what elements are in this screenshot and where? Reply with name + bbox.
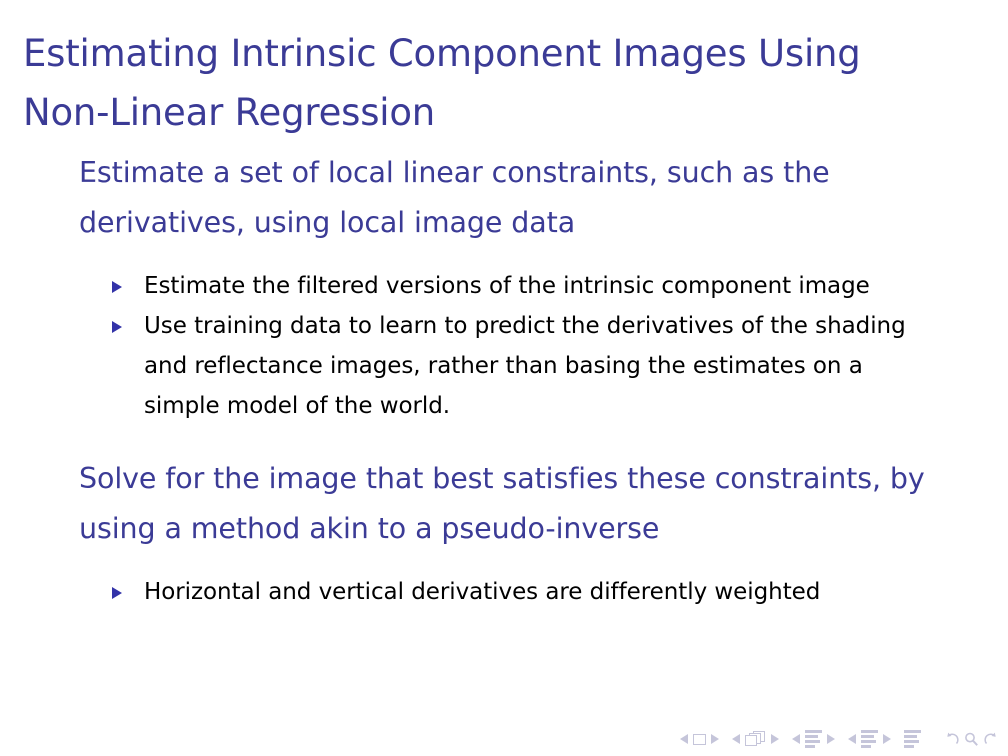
previous-subsection-icon[interactable] xyxy=(792,734,800,744)
triangle-right-icon xyxy=(112,281,122,293)
beamer-navigation-bar[interactable] xyxy=(680,730,1000,748)
level1-item-1: Estimate a set of local linear constrain… xyxy=(0,148,1008,248)
level2-list-2: Horizontal and vertical derivatives are … xyxy=(0,572,1008,612)
search-magnifier-icon[interactable] xyxy=(963,731,980,748)
page-title-line-1: Estimating Intrinsic Component Images Us… xyxy=(23,24,953,83)
next-subsection-icon[interactable] xyxy=(827,734,835,744)
spacer xyxy=(0,560,1008,572)
subsection-navigation-group[interactable] xyxy=(792,730,835,748)
page-title: Estimating Intrinsic Component Images Us… xyxy=(23,24,953,142)
list-item-label: Horizontal and vertical derivatives are … xyxy=(144,579,820,605)
spacer xyxy=(0,254,1008,266)
level2-list-1: Estimate the filtered versions of the in… xyxy=(0,266,1008,426)
next-slide-icon[interactable] xyxy=(711,734,719,744)
slide-body: Estimate a set of local linear constrain… xyxy=(0,148,1008,612)
triangle-right-icon xyxy=(112,587,122,599)
page-title-line-2: Non-Linear Regression xyxy=(23,83,953,142)
subsection-marker-icon[interactable] xyxy=(805,730,822,748)
previous-section-icon[interactable] xyxy=(848,734,856,744)
level1-item-2: Solve for the image that best satisfies … xyxy=(0,454,1008,554)
section-marker-icon[interactable] xyxy=(861,730,878,748)
next-section-icon[interactable] xyxy=(883,734,891,744)
list-item: Horizontal and vertical derivatives are … xyxy=(0,572,1008,612)
forward-arrow-icon[interactable] xyxy=(983,731,1000,748)
presentation-slide: Estimating Intrinsic Component Images Us… xyxy=(0,0,1008,756)
document-marker-icon[interactable] xyxy=(904,730,921,748)
next-frame-icon[interactable] xyxy=(771,734,779,744)
triangle-right-icon xyxy=(112,321,122,333)
slide-navigation-group[interactable] xyxy=(680,734,719,745)
spacer xyxy=(0,426,1008,454)
section-navigation-group[interactable] xyxy=(848,730,891,748)
back-arrow-icon[interactable] xyxy=(943,731,960,748)
frame-stack-icon[interactable] xyxy=(745,731,766,747)
slide-marker-icon[interactable] xyxy=(693,734,706,745)
list-item: Use training data to learn to predict th… xyxy=(0,306,1008,426)
list-item-label: Estimate the filtered versions of the in… xyxy=(144,273,870,299)
document-navigation-group[interactable] xyxy=(904,730,921,748)
frame-navigation-group[interactable] xyxy=(732,731,779,747)
list-item-label: Use training data to learn to predict th… xyxy=(144,313,906,419)
list-item: Estimate the filtered versions of the in… xyxy=(0,266,1008,306)
previous-frame-icon[interactable] xyxy=(732,734,740,744)
previous-slide-icon[interactable] xyxy=(680,734,688,744)
history-navigation-group[interactable] xyxy=(943,731,1000,748)
